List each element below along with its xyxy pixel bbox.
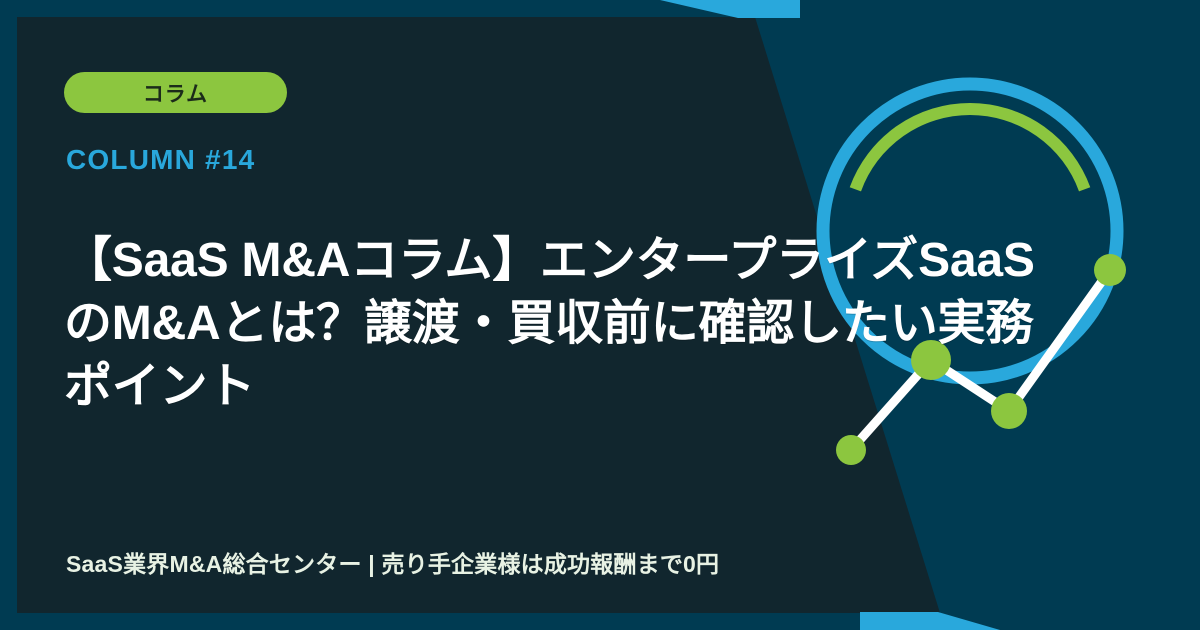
page-title: 【SaaS M&Aコラム】エンタープライズSaaSのM&Aとは？譲渡・買収前に確… <box>64 230 1074 419</box>
trend-node-4-icon <box>1094 254 1126 286</box>
site-footer-label: SaaS業界M&A総合センター | 売り手企業様は成功報酬まで0円 <box>66 545 719 579</box>
og-card: コラム COLUMN #14 【SaaS M&Aコラム】エンタープライズSaaS… <box>0 0 1200 630</box>
card-content: コラム COLUMN #14 【SaaS M&Aコラム】エンタープライズSaaS… <box>64 0 1044 630</box>
category-badge: コラム <box>64 72 287 113</box>
column-number-label: COLUMN #14 <box>66 144 255 176</box>
